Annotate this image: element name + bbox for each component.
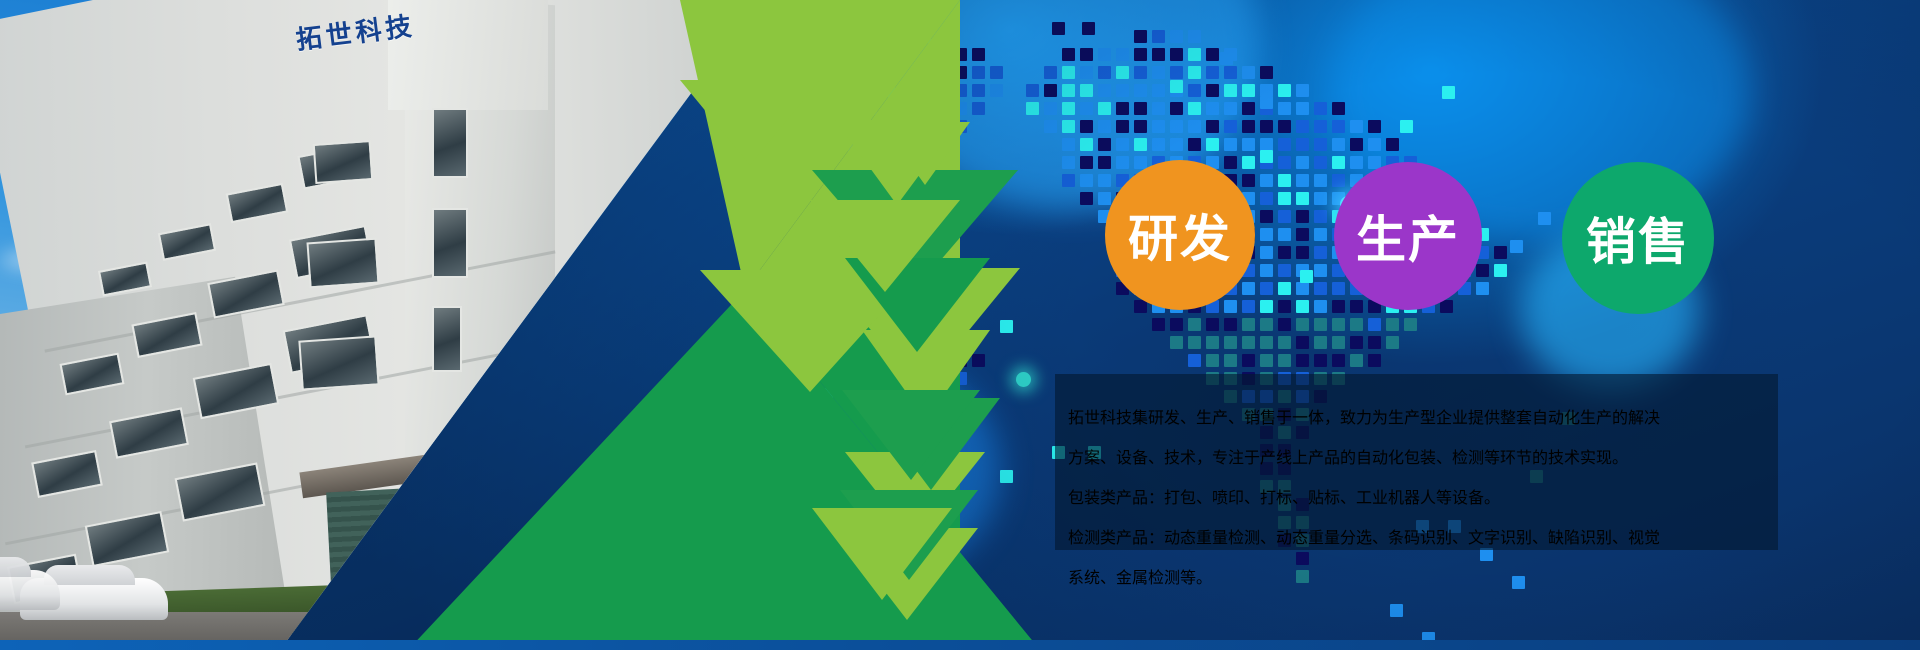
circle-label-sales: 销售 — [1586, 202, 1690, 274]
description-line: 包装类产品：打包、喷印、打标、贴标、工业机器人等设备。 — [1068, 484, 1788, 508]
green-triangle-accents — [660, 60, 1080, 620]
circle-sales[interactable]: 销售 — [1562, 162, 1714, 314]
circle-label-research-development: 研发 — [1128, 199, 1232, 271]
description-line: 系统、金属检测等。 — [1068, 564, 1788, 588]
description-line: 检测类产品：动态重量检测、动态重量分选、条码识别、文字识别、缺陷识别、视觉 — [1068, 524, 1788, 548]
description-line: 拓世科技集研发、生产、销售于一体，致力为生产型企业提供整套自动化生产的解决 — [1068, 404, 1788, 428]
circle-production[interactable]: 生产 — [1334, 162, 1482, 310]
circle-research-development[interactable]: 研发 — [1105, 160, 1255, 310]
company-banner: 拓世科技 — [0, 0, 1920, 650]
circle-label-production: 生产 — [1356, 200, 1460, 272]
bottom-accent-strip — [0, 640, 1920, 650]
description-text: 拓世科技集研发、生产、销售于一体，致力为生产型企业提供整套自动化生产的解决 方案… — [1068, 388, 1788, 604]
description-line: 方案、设备、技术，专注于产线上产品的自动化包装、检测等环节的技术实现。 — [1068, 444, 1788, 468]
